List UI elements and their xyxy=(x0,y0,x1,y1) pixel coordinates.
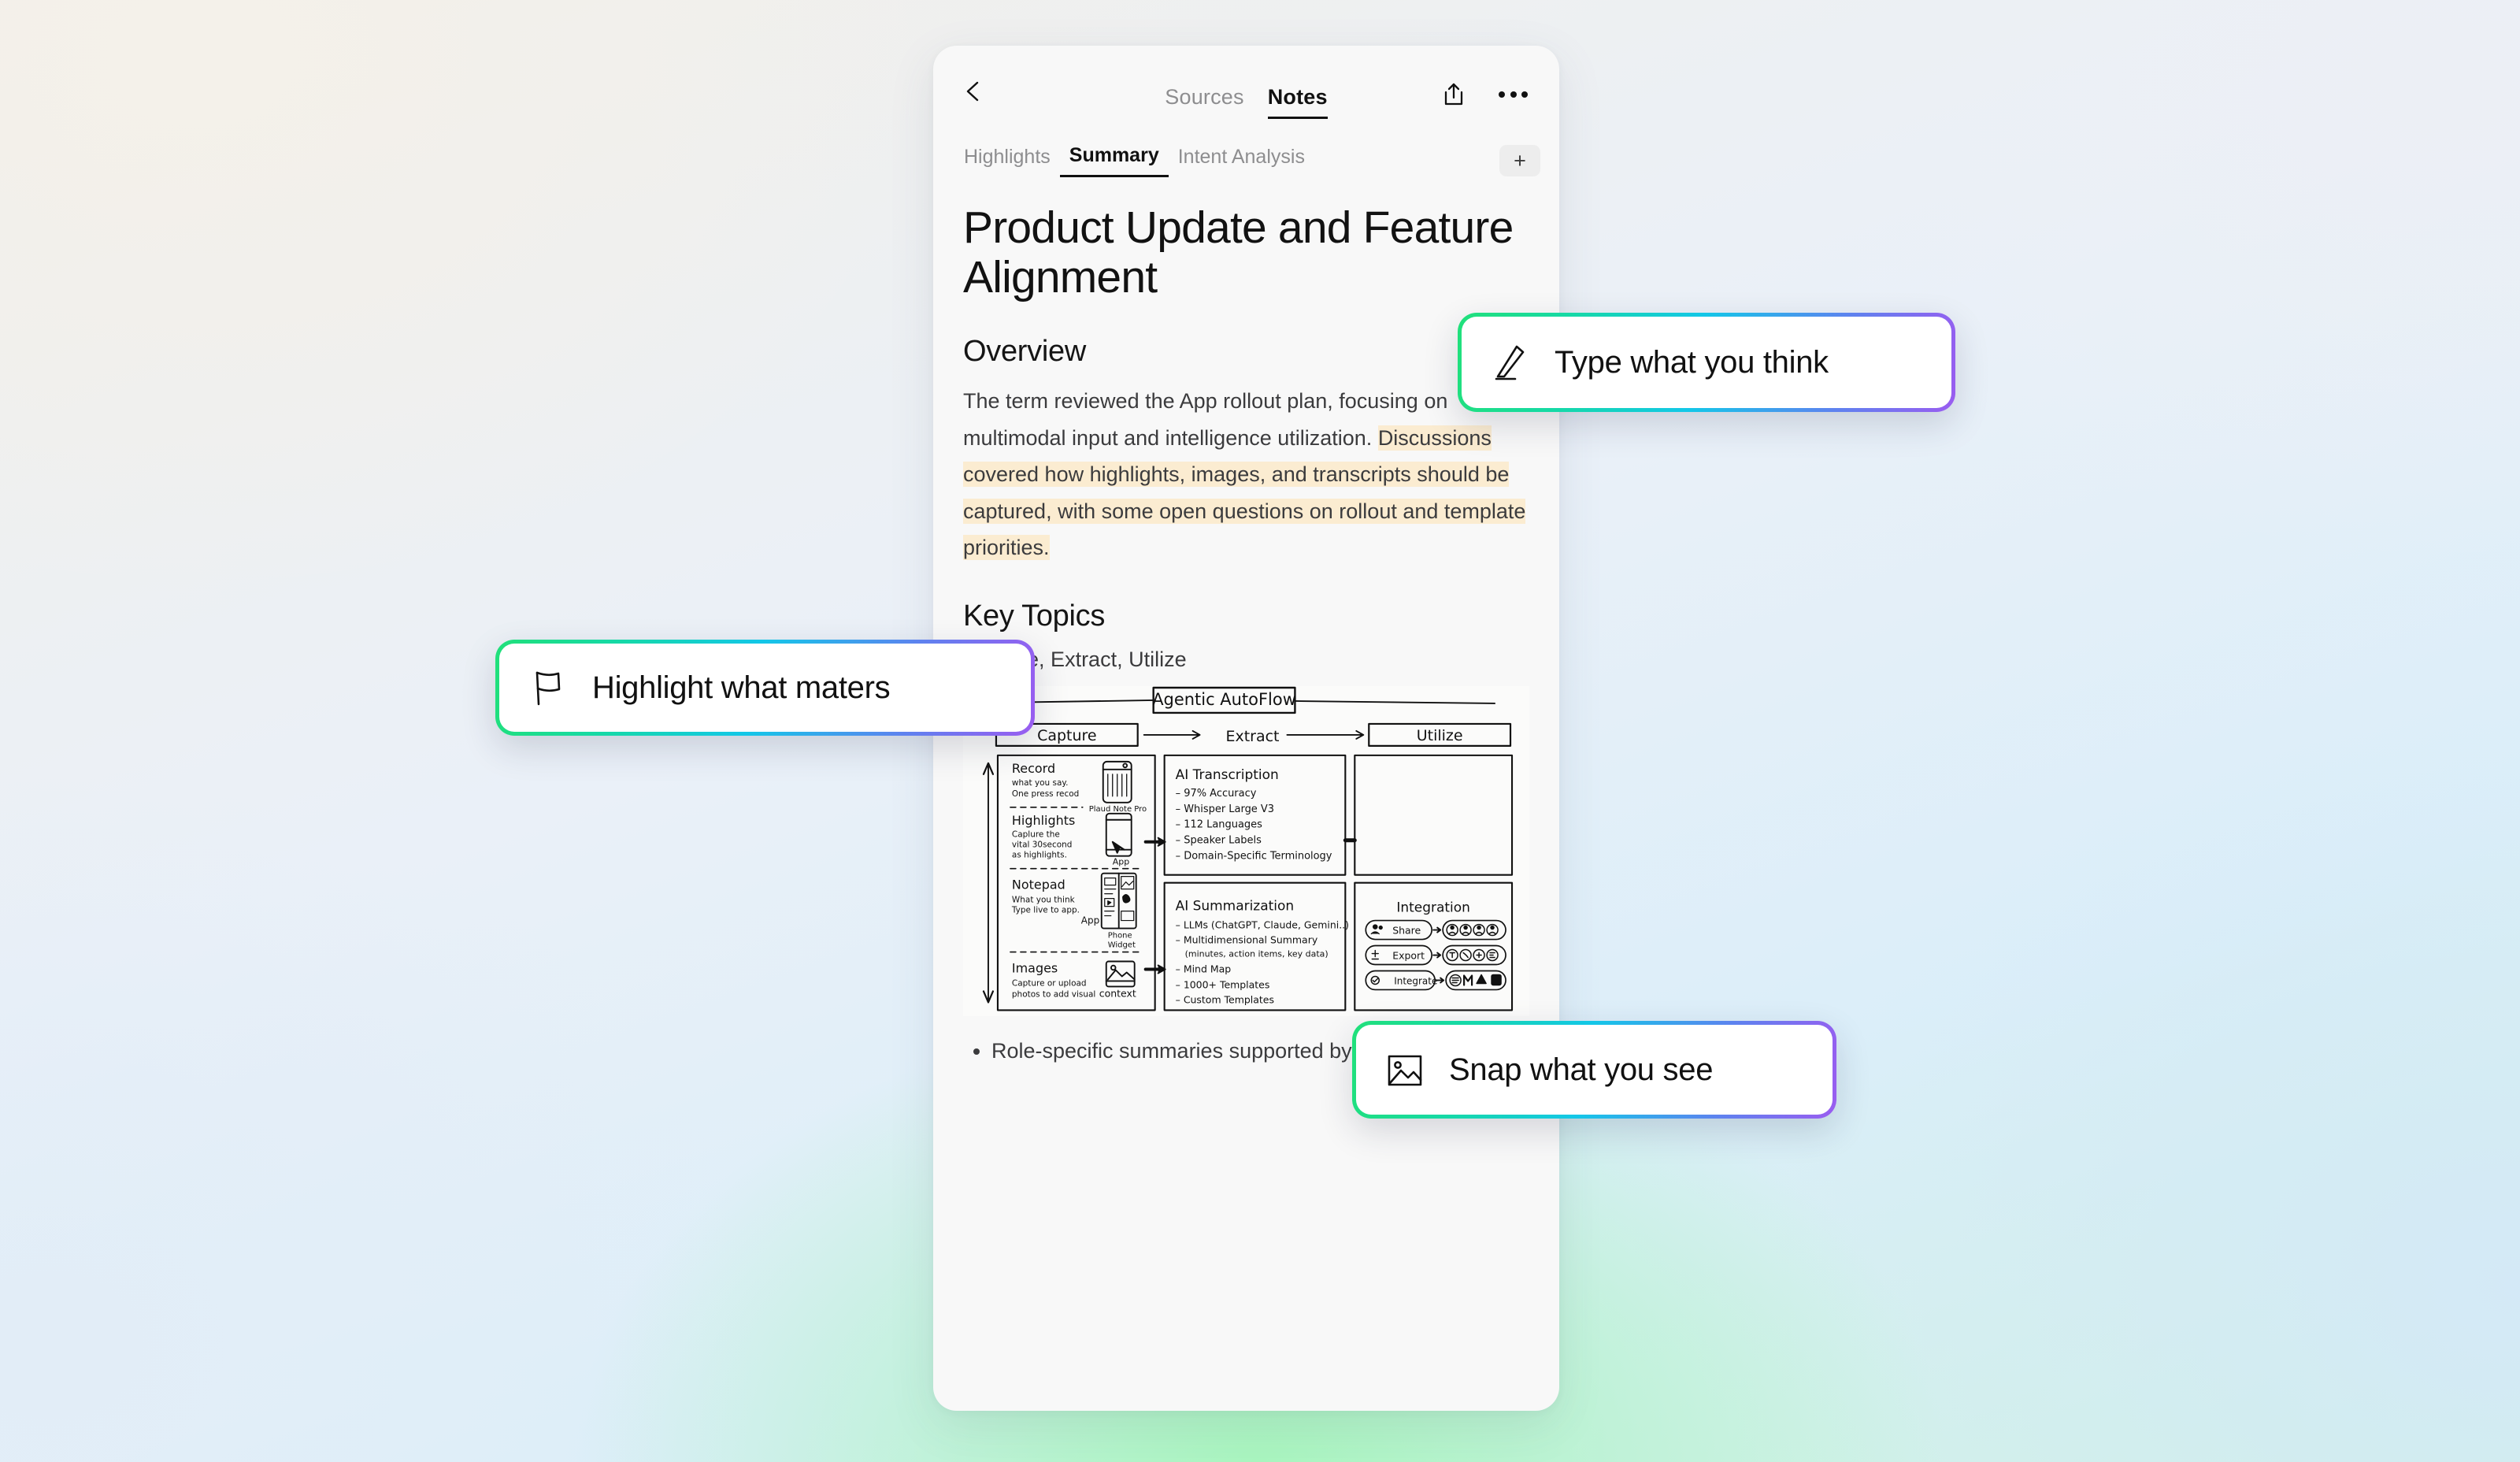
subtab-summary[interactable]: Summary xyxy=(1060,144,1169,177)
svg-text:– Speaker Labels: – Speaker Labels xyxy=(1176,834,1262,846)
header-actions xyxy=(1443,83,1528,106)
svg-text:AI Summarization: AI Summarization xyxy=(1176,898,1295,914)
svg-text:– 1000+ Templates: – 1000+ Templates xyxy=(1176,978,1270,990)
agentic-autoflow-diagram[interactable]: AI Agentic AutoFlow Capture Utilize Extr… xyxy=(963,686,1529,1016)
stage-utilize: Utilize xyxy=(1417,726,1463,744)
svg-text:Integration: Integration xyxy=(1396,900,1470,915)
svg-text:context: context xyxy=(1099,987,1136,999)
overview-plain-text: The term reviewed the App rollout plan, … xyxy=(963,389,1447,449)
page-title: Product Update and Feature Alignment xyxy=(963,203,1529,302)
callout-type-what-you-think[interactable]: Type what you think xyxy=(1458,313,1955,412)
stage-capture: Capture xyxy=(1037,726,1096,744)
key-topics-subtitle: Capture, Extract, Utilize xyxy=(963,648,1529,672)
tab-notes[interactable]: Notes xyxy=(1268,85,1328,119)
share-icon[interactable] xyxy=(1443,83,1464,106)
svg-text:– Multidimensional Summary: – Multidimensional Summary xyxy=(1176,933,1318,945)
svg-text:Record: Record xyxy=(1012,760,1055,775)
svg-text:– Whisper Large V3: – Whisper Large V3 xyxy=(1176,803,1274,814)
stage-extract: Extract xyxy=(1226,727,1280,744)
svg-text:Images: Images xyxy=(1012,960,1058,975)
svg-text:what you say.: what you say. xyxy=(1012,777,1069,787)
svg-text:– 97% Accuracy: – 97% Accuracy xyxy=(1176,787,1257,799)
subtab-bar: Highlights Summary Intent Analysis + xyxy=(933,139,1559,183)
svg-text:What you think: What you think xyxy=(1012,895,1076,904)
callout-snap-what-you-see[interactable]: Snap what you see xyxy=(1352,1021,1836,1119)
svg-text:– Domain-Specific Terminology: – Domain-Specific Terminology xyxy=(1176,850,1332,862)
key-topics-heading: Key Topics xyxy=(963,599,1529,633)
subtab-highlights[interactable]: Highlights xyxy=(954,146,1060,176)
tab-sources[interactable]: Sources xyxy=(1165,85,1243,119)
svg-text:– Mind Map: – Mind Map xyxy=(1176,963,1232,974)
svg-text:Notepad: Notepad xyxy=(1012,877,1065,892)
svg-text:Integrate: Integrate xyxy=(1394,975,1437,986)
overview-heading: Overview xyxy=(963,335,1529,369)
pen-icon xyxy=(1490,342,1531,383)
chevron-left-icon[interactable] xyxy=(963,80,985,102)
callout-highlight-what-maters[interactable]: Highlight what maters xyxy=(495,640,1035,736)
svg-text:– 112 Languages: – 112 Languages xyxy=(1176,818,1262,830)
svg-text:Widget: Widget xyxy=(1108,941,1136,949)
svg-text:Highlights: Highlights xyxy=(1012,812,1075,827)
svg-text:Phone: Phone xyxy=(1108,931,1132,940)
svg-text:(minutes, action items, key da: (minutes, action items, key data) xyxy=(1185,948,1329,959)
svg-text:– LLMs (ChatGPT, Claude, Gemin: – LLMs (ChatGPT, Claude, Gemini..) xyxy=(1176,918,1349,930)
flag-icon xyxy=(528,667,569,708)
svg-text:Share: Share xyxy=(1392,924,1421,936)
subtab-intent-analysis[interactable]: Intent Analysis xyxy=(1169,146,1314,176)
svg-text:Capture or upload: Capture or upload xyxy=(1012,978,1087,988)
callout-label: Highlight what maters xyxy=(592,670,890,706)
svg-text:One press recod: One press recod xyxy=(1012,789,1079,798)
svg-text:Caplure the: Caplure the xyxy=(1012,829,1060,839)
svg-text:App: App xyxy=(1081,915,1099,926)
callout-label: Type what you think xyxy=(1555,345,1829,380)
svg-text:vital 30second: vital 30second xyxy=(1012,840,1073,849)
image-icon xyxy=(1384,1049,1425,1090)
overview-paragraph: The term reviewed the App rollout plan, … xyxy=(963,383,1529,566)
add-subtab-button[interactable]: + xyxy=(1499,145,1540,176)
svg-text:Plaud Note Pro: Plaud Note Pro xyxy=(1089,804,1147,813)
callout-label: Snap what you see xyxy=(1449,1052,1713,1088)
svg-text:as highlights.: as highlights. xyxy=(1012,850,1067,859)
svg-text:App: App xyxy=(1113,856,1129,866)
card-header: Sources Notes xyxy=(933,46,1559,121)
svg-text:Export: Export xyxy=(1392,949,1425,961)
diagram-title: Agentic AutoFlow xyxy=(1152,690,1296,709)
more-horizontal-icon[interactable] xyxy=(1499,91,1528,98)
svg-text:– Custom Templates: – Custom Templates xyxy=(1176,993,1274,1005)
svg-text:AI Transcription: AI Transcription xyxy=(1176,766,1279,782)
svg-text:photos to add visual: photos to add visual xyxy=(1012,989,1095,999)
svg-text:Type live to app.: Type live to app. xyxy=(1011,905,1080,915)
